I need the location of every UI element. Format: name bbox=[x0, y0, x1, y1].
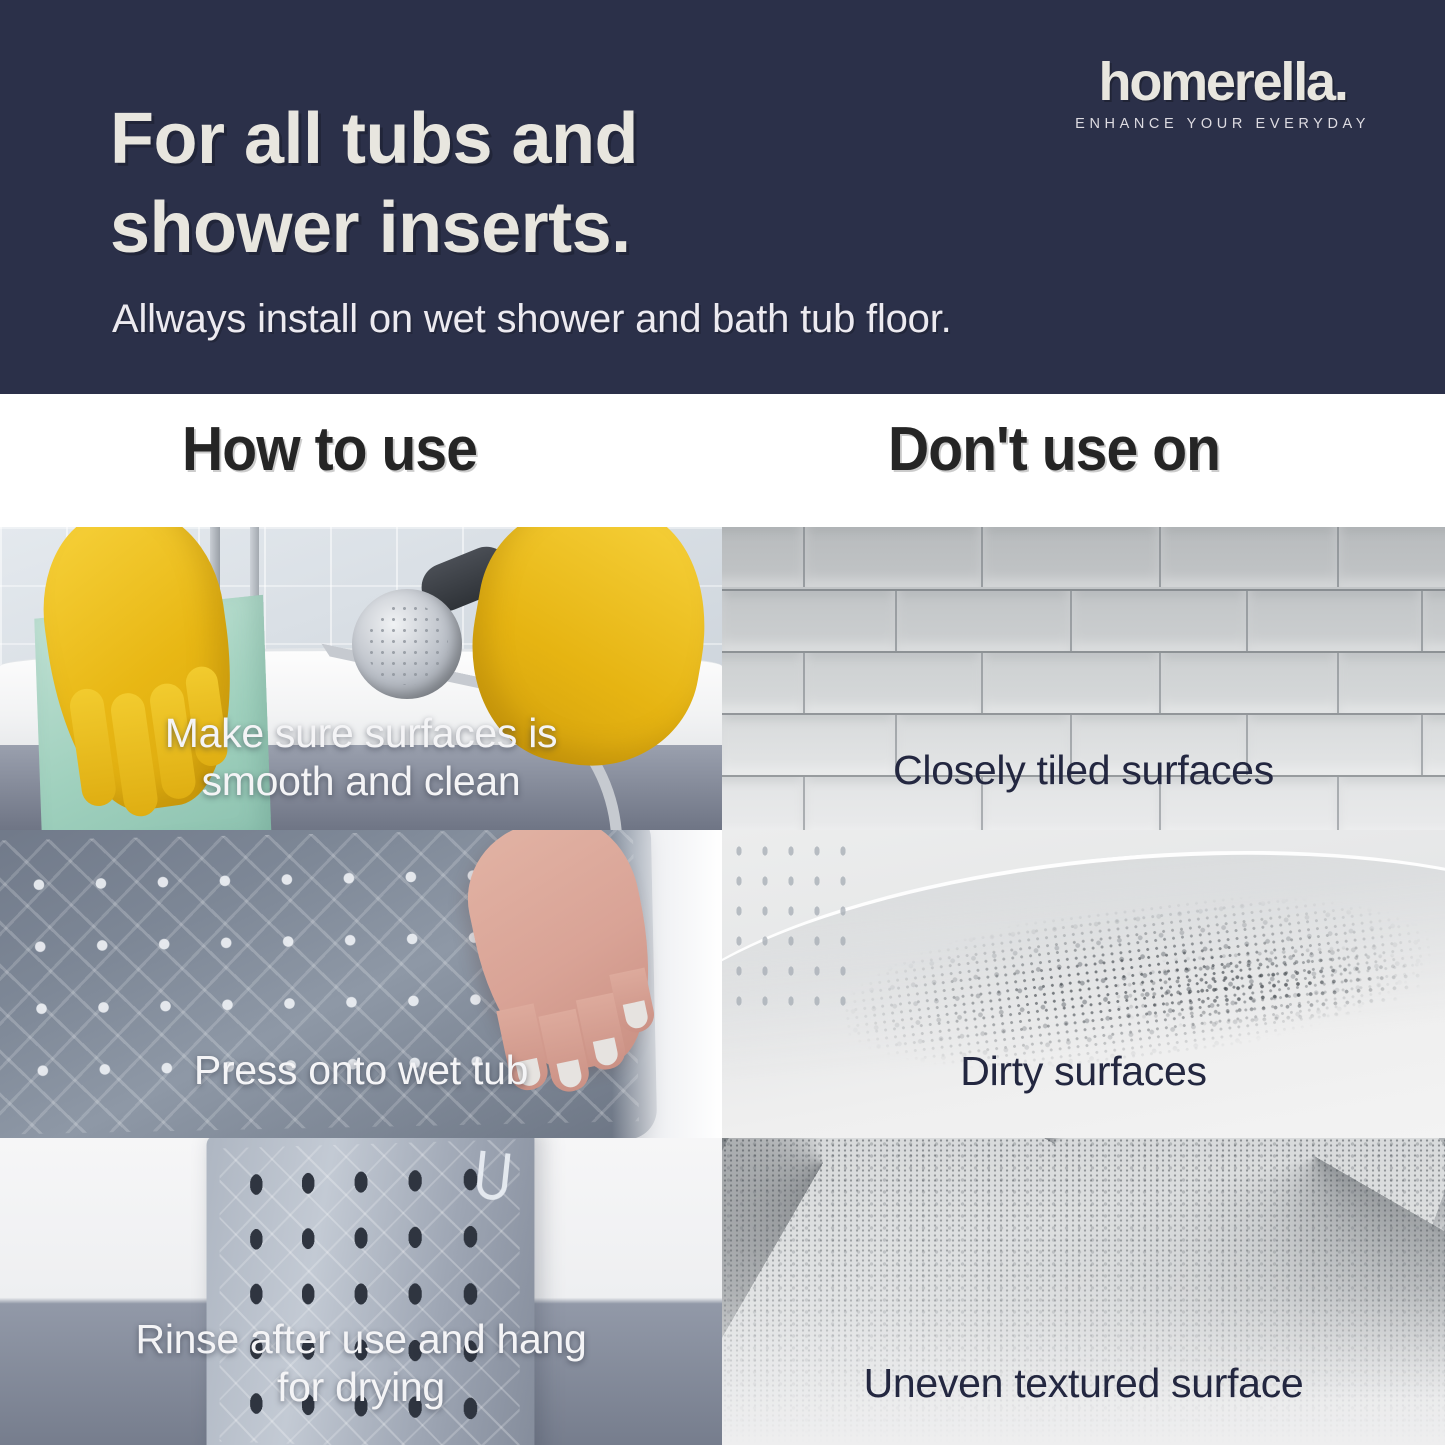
page-subheadline: Allways install on wet shower and bath t… bbox=[112, 297, 952, 342]
brand-tagline: ENHANCE YOUR EVERYDAY bbox=[1075, 116, 1370, 132]
caption-line-2: for drying bbox=[0, 1364, 722, 1412]
headline-line-2: shower inserts. bbox=[110, 184, 870, 273]
caption-line-1: Rinse after use and hang bbox=[0, 1316, 722, 1364]
caption-line-2: smooth and clean bbox=[0, 758, 722, 806]
infographic-page: For all tubs and shower inserts. Allways… bbox=[0, 0, 1445, 1445]
brand-logo: homerella. ENHANCE YOUR EVERYDAY bbox=[1075, 55, 1370, 132]
panel-make-sure-surfaces-clean: Make sure surfaces is smooth and clean bbox=[0, 527, 722, 830]
caption-line-1: Uneven textured surface bbox=[722, 1360, 1445, 1408]
caption-line-1: Press onto wet tub bbox=[0, 1047, 722, 1095]
instruction-grid: Make sure surfaces is smooth and clean bbox=[0, 527, 1445, 1445]
section-titles-bar: How to use Don't use on bbox=[0, 394, 1445, 527]
header-banner: For all tubs and shower inserts. Allways… bbox=[0, 0, 1445, 394]
headline-line-1: For all tubs and bbox=[110, 95, 870, 184]
panel-caption: Rinse after use and hang for drying bbox=[0, 1316, 722, 1412]
panel-caption: Closely tiled surfaces bbox=[722, 747, 1445, 795]
tile-row bbox=[722, 589, 1445, 651]
caption-line-1: Make sure surfaces is bbox=[0, 710, 722, 758]
panel-caption: Uneven textured surface bbox=[722, 1360, 1445, 1408]
brand-name: homerella. bbox=[1075, 55, 1370, 109]
panel-press-onto-wet-tub: Press onto wet tub bbox=[0, 830, 722, 1138]
panel-dirty-surfaces: Dirty surfaces bbox=[722, 830, 1445, 1138]
caption-line-1: Dirty surfaces bbox=[722, 1048, 1445, 1096]
tile-row bbox=[722, 527, 1445, 587]
showerhead-nozzle-dots bbox=[366, 603, 448, 685]
chrome-showerhead bbox=[352, 589, 462, 699]
panel-rinse-and-hang: Rinse after use and hang for drying bbox=[0, 1138, 722, 1445]
caption-line-1: Closely tiled surfaces bbox=[722, 747, 1445, 795]
panel-uneven-textured-surface: Uneven textured surface bbox=[722, 1138, 1445, 1445]
section-title-dont-use-on: Don't use on bbox=[888, 414, 1220, 485]
panel-caption: Dirty surfaces bbox=[722, 1048, 1445, 1096]
tile-row bbox=[722, 651, 1445, 713]
fingernail bbox=[623, 1000, 650, 1030]
panel-closely-tiled-surfaces: Closely tiled surfaces bbox=[722, 527, 1445, 830]
panel-caption: Press onto wet tub bbox=[0, 1047, 722, 1095]
panel-caption: Make sure surfaces is smooth and clean bbox=[0, 710, 722, 806]
page-headline: For all tubs and shower inserts. bbox=[110, 95, 870, 274]
section-title-how-to-use: How to use bbox=[182, 414, 477, 485]
